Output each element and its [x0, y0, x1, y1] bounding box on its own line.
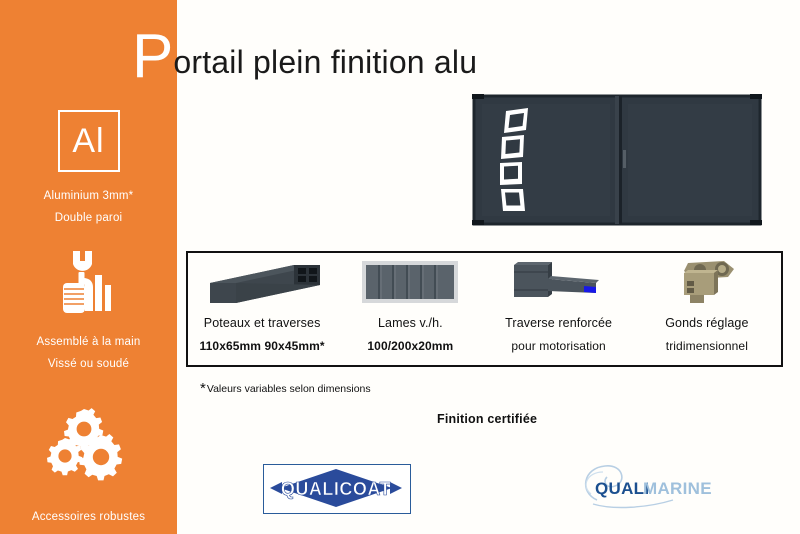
- product-item: Traverse renforcée pour motorisation: [485, 253, 633, 365]
- product-label: Lames v./h.: [378, 314, 443, 333]
- sidebar-feature-aluminium: Al Aluminium 3mm* Double paroi: [0, 110, 177, 230]
- svg-text:QUALICOAT: QUALICOAT: [281, 479, 391, 499]
- product-label: Poteaux et traverses: [204, 314, 321, 333]
- product-spec: 100/200x20mm: [367, 337, 453, 356]
- hand-wrench-icon: [53, 247, 125, 317]
- sidebar-feature-assembly-line2: Vissé ou soudé: [0, 353, 177, 375]
- qualicoat-logo: QUALICOAT: [263, 464, 411, 514]
- slats-panel-icon: [360, 259, 460, 305]
- aluminium-symbol-text: Al: [72, 124, 104, 158]
- svg-text:QUALI: QUALI: [595, 479, 649, 498]
- product-item: Lames v./h. 100/200x20mm: [336, 253, 484, 365]
- gate-illustration: [472, 92, 762, 228]
- sidebar-feature-aluminium-line2: Double paroi: [0, 207, 177, 229]
- sidebar-feature-assembly-line1: Assemblé à la main: [0, 331, 177, 353]
- page-title: P ortail plein finition alu: [132, 22, 477, 84]
- gears-icon: [44, 408, 134, 484]
- sidebar-feature-accessories: Accessoires robustes: [0, 408, 177, 528]
- svg-text:MARINE: MARINE: [643, 479, 712, 498]
- brochure-page: Al Aluminium 3mm* Double paroi: [0, 0, 800, 534]
- post-beam-profile-icon: [202, 259, 322, 305]
- aluminium-square-icon: Al: [58, 110, 120, 172]
- page-title-text: ortail plein finition alu: [173, 46, 477, 78]
- footnote: *Valeurs variables selon dimensions: [200, 380, 371, 398]
- product-label: Traverse renforcée: [505, 314, 612, 333]
- product-label: Gonds réglage: [665, 314, 748, 333]
- sidebar-feature-accessories-line1: Accessoires robustes: [0, 506, 177, 528]
- sidebar-feature-assembly: Assemblé à la main Vissé ou soudé: [0, 247, 177, 376]
- product-item: Poteaux et traverses 110x65mm 90x45mm*: [188, 253, 336, 365]
- qualimarine-logo: QUALI MARINE: [569, 458, 719, 514]
- product-spec: pour motorisation: [511, 337, 605, 356]
- product-spec: 110x65mm 90x45mm*: [200, 337, 325, 356]
- certification-heading: Finition certifiée: [437, 412, 537, 426]
- sidebar-feature-aluminium-line1: Aluminium 3mm*: [0, 185, 177, 207]
- footnote-marker: *: [200, 380, 206, 397]
- products-box: Poteaux et traverses 110x65mm 90x45mm*: [186, 251, 783, 367]
- footnote-text: Valeurs variables selon dimensions: [207, 383, 371, 395]
- hinge-bracket-icon: [664, 259, 750, 305]
- product-spec: tridimensionnel: [666, 337, 748, 356]
- page-title-initial: P: [132, 26, 173, 88]
- reinforced-beam-icon: [504, 259, 614, 305]
- product-item: Gonds réglage tridimensionnel: [633, 253, 781, 365]
